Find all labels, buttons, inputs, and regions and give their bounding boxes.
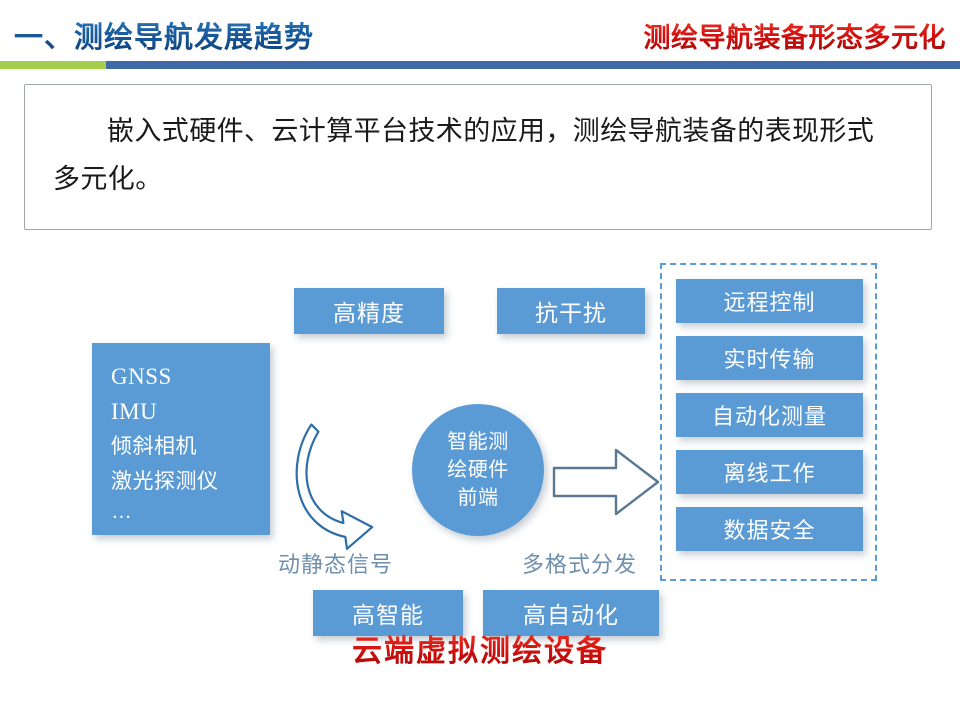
source-item-gnss: GNSS <box>111 359 270 394</box>
output-chip-offline-work: 离线工作 <box>676 450 863 494</box>
page-title-right: 测绘导航装备形态多元化 <box>644 16 947 55</box>
right-block-arrow <box>552 446 662 518</box>
output-chip-automated-measurement: 自动化测量 <box>676 393 863 437</box>
center-node-line-2: 绘硬件 <box>447 456 509 484</box>
bottom-caption-cloud-virtual-device: 云端虚拟测绘设备 <box>0 626 960 670</box>
feature-chip-anti-jamming: 抗干扰 <box>497 288 645 334</box>
output-chip-data-security: 数据安全 <box>676 507 863 551</box>
source-devices-box: GNSS IMU 倾斜相机 激光探测仪 … <box>92 343 270 535</box>
center-node-line-1: 智能测 <box>447 428 509 456</box>
header-divider <box>0 61 960 69</box>
intro-textbox: 嵌入式硬件、云计算平台技术的应用，测绘导航装备的表现形式多元化。 <box>24 84 932 230</box>
output-chip-realtime-transmission: 实时传输 <box>676 336 863 380</box>
caption-multiformat-distribution: 多格式分发 <box>522 547 637 579</box>
curved-flow-arrow <box>286 416 416 546</box>
source-item-laser-detector: 激光探测仪 <box>111 464 270 499</box>
output-chip-remote-control: 远程控制 <box>676 279 863 323</box>
caption-dynamic-static-signal: 动静态信号 <box>278 547 393 579</box>
source-item-tilt-camera: 倾斜相机 <box>111 429 270 464</box>
source-item-imu: IMU <box>111 394 270 429</box>
center-node-line-3: 前端 <box>458 484 499 512</box>
feature-chip-high-precision: 高精度 <box>294 288 444 334</box>
page-title-left: 一、测绘导航发展趋势 <box>14 14 314 56</box>
cloud-capabilities-group: 远程控制 实时传输 自动化测量 离线工作 数据安全 <box>660 263 877 581</box>
center-node-smart-hardware-frontend: 智能测 绘硬件 前端 <box>412 404 544 536</box>
source-item-ellipsis: … <box>111 499 270 525</box>
architecture-diagram: GNSS IMU 倾斜相机 激光探测仪 … 高精度 抗干扰 高智能 高自动化 智… <box>0 240 960 610</box>
header-divider-blue-segment <box>106 61 960 69</box>
header-divider-green-segment <box>0 61 106 69</box>
slide-header: 一、测绘导航发展趋势 测绘导航装备形态多元化 <box>0 0 960 72</box>
intro-paragraph: 嵌入式硬件、云计算平台技术的应用，测绘导航装备的表现形式多元化。 <box>53 107 901 203</box>
